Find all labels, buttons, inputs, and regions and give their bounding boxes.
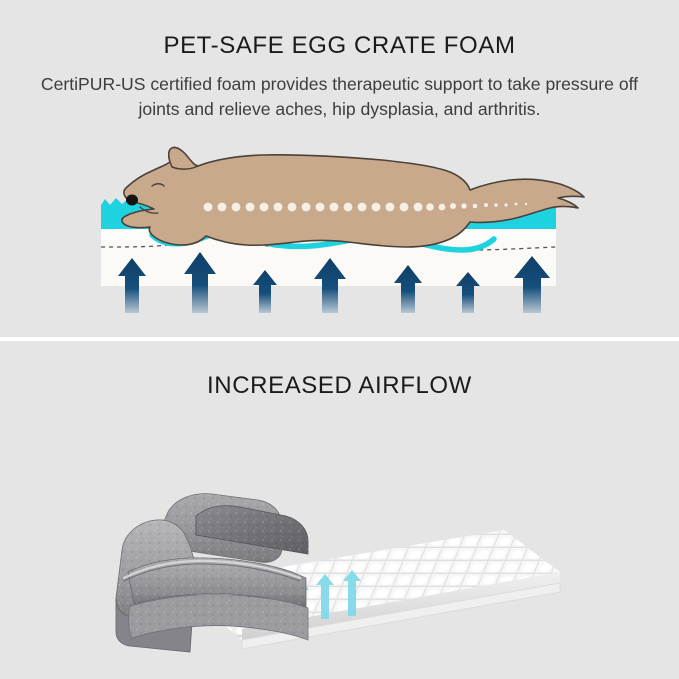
dog-nose-top-panel: [126, 195, 138, 206]
panel-pet-safe-egg-crate-foam: PET-SAFE EGG CRATE FOAM CertiPUR-US cert…: [0, 0, 679, 339]
infographic-root: PET-SAFE EGG CRATE FOAM CertiPUR-US cert…: [0, 0, 679, 679]
panel-increased-airflow: INCREASED AIRFLOW: [0, 340, 679, 679]
dog-ear-top-panel: [169, 147, 198, 169]
illustration-dog-on-pressure-relief-foam: [0, 0, 679, 339]
illustration-dog-on-bolster-bed: [0, 340, 679, 679]
